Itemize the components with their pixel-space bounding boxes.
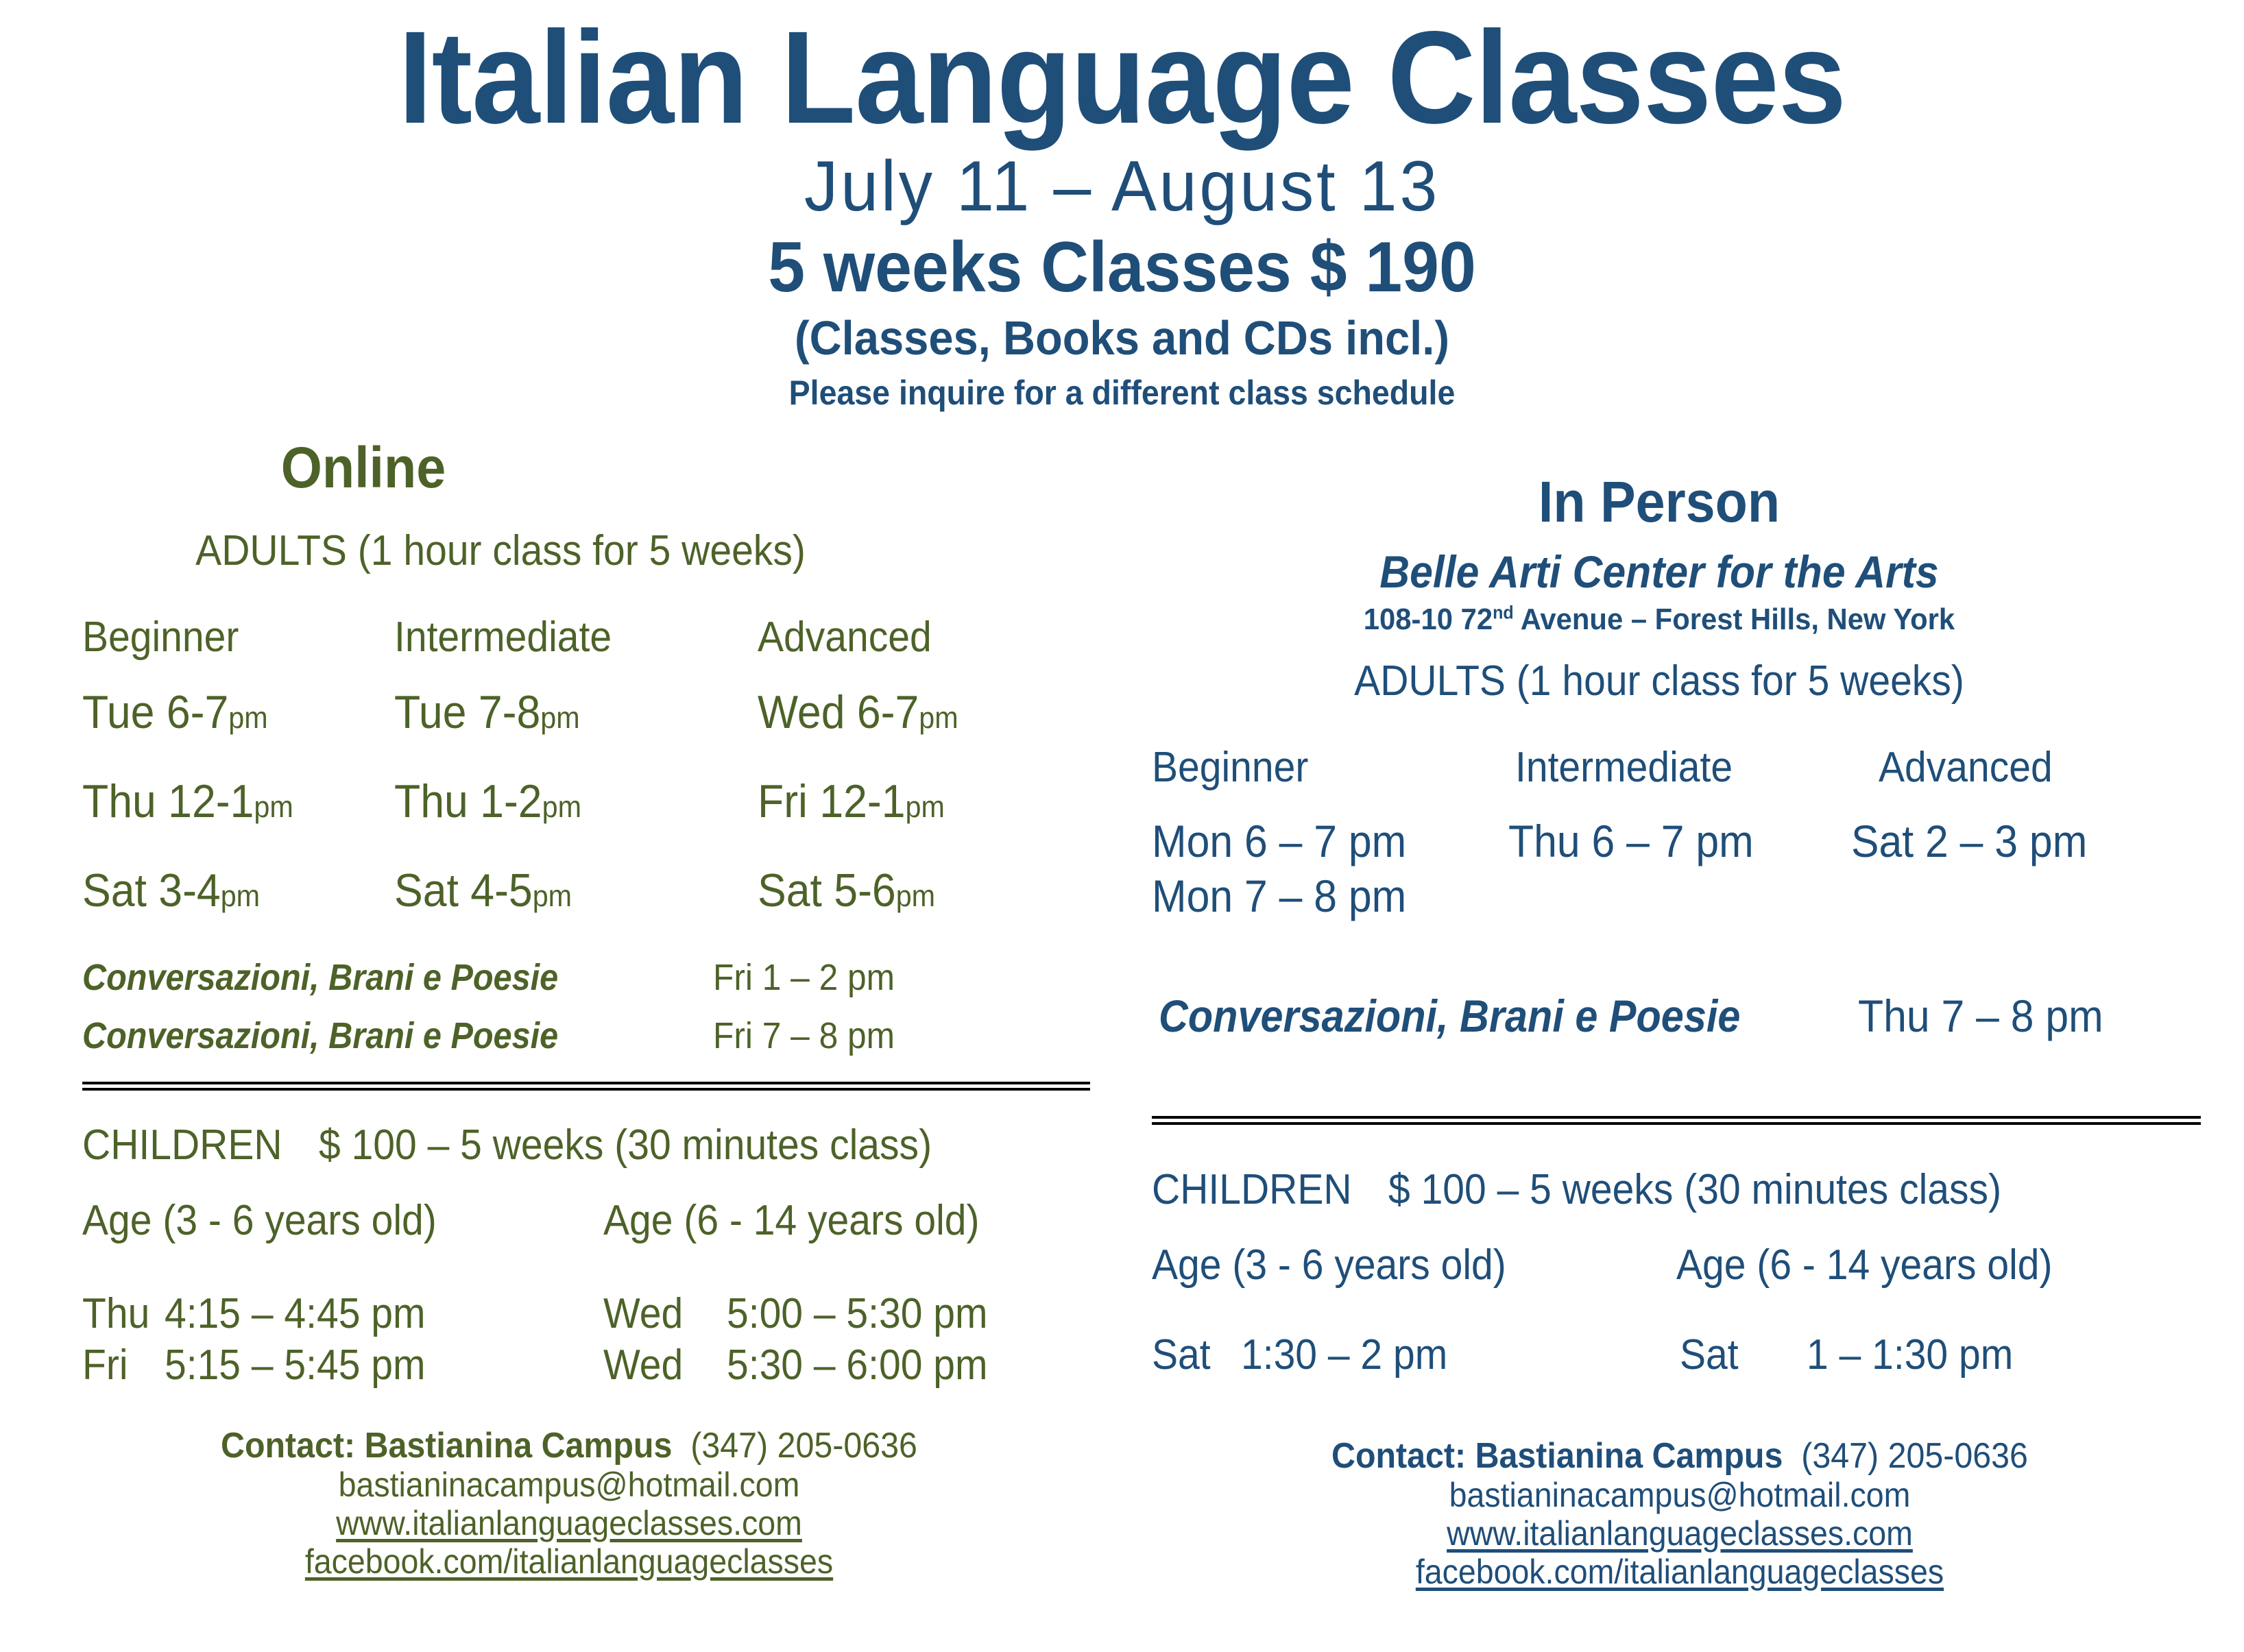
inperson-contact-name: Bastianina Campus [1475,1436,1783,1476]
venue-address-post: Avenue – Forest Hills, New York [1514,603,1955,636]
online-children-day: Wed [603,1289,717,1339]
inperson-conversazioni-row: Conversazioni, Brani e Poesie Thu 7 – 8 … [1159,991,2242,1043]
online-conversazioni-row: Conversazioni, Brani e Poesie Fri 1 – 2 … [82,956,1111,999]
online-conversazioni-time: Fri 7 – 8 pm [713,1015,895,1057]
inperson-children-time: 1:30 – 2 pm [1241,1330,1645,1381]
online-slot-ampm: pm [919,700,958,735]
inperson-conversazioni-label: Conversazioni, Brani e Poesie [1159,991,1788,1043]
online-slot-time: Fri 12-1 [758,775,906,827]
inperson-contact-website[interactable]: www.italianlanguageclasses.com [1189,1514,2171,1553]
online-slot-ampm: pm [542,789,581,824]
inperson-children-age-groups: Age (3 - 6 years old) Age (6 - 14 years … [1152,1241,2235,1289]
inperson-conversazioni-time: Thu 7 – 8 pm [1858,991,2103,1043]
online-slot-time: Thu 1-2 [394,775,542,827]
flyer-header: Italian Language Classes July 11 – Augus… [0,0,2244,412]
inperson-contact-email[interactable]: bastianinacampus@hotmail.com [1189,1476,2171,1514]
online-children-age-groups: Age (3 - 6 years old) Age (6 - 14 years … [82,1196,1111,1245]
inperson-section-title: In Person [1167,473,2151,531]
date-range: July 11 – August 13 [56,149,2188,224]
inperson-adults-heading: ADULTS (1 hour class for 5 weeks) [1167,658,2151,705]
online-slot-ampm: pm [254,789,293,824]
online-slot-time: Sat 4-5 [394,864,533,916]
online-children-heading: CHILDREN $ 100 – 5 weeks (30 minutes cla… [82,1121,1111,1169]
online-slot-row: Sat 3-4pm Sat 4-5pm Sat 5-6pm [82,864,1111,917]
inquire-line: Please inquire for a different class sch… [79,374,2166,412]
online-slot-ampm: pm [540,700,579,735]
online-children-day: Fri [82,1340,158,1391]
online-slot-row: Thu 12-1pm Thu 1-2pm Fri 12-1pm [82,775,1111,828]
inperson-contact-line: Contact: Bastianina Campus (347) 205-063… [1189,1436,2171,1476]
online-contact-name: Bastianina Campus [365,1426,673,1466]
online-slot-time: Sat 5-6 [758,864,896,916]
inperson-contact-phone: (347) 205-0636 [1801,1436,2028,1476]
venue-address: 108-10 72nd Avenue – Forest Hills, New Y… [1151,603,2167,636]
online-contact-line: Contact: Bastianina Campus (347) 205-063… [78,1426,1060,1466]
inperson-level-intermediate: Intermediate [1515,744,1850,791]
inperson-children-day: Sat [1680,1330,1796,1381]
online-slot-ampm: pm [228,700,267,735]
online-adults-heading: ADULTS (1 hour class for 5 weeks) [40,528,961,574]
online-children-time: 5:30 – 6:00 pm [727,1340,988,1391]
inperson-contact-block: Contact: Bastianina Campus (347) 205-063… [1152,1436,2208,1591]
online-children-time: 5:15 – 5:45 pm [165,1340,568,1391]
online-children-age-group-1: Age (3 - 6 years old) [82,1196,562,1245]
online-contact-email[interactable]: bastianinacampus@hotmail.com [78,1466,1060,1504]
inperson-contact-label: Contact: [1331,1436,1466,1476]
online-section-title: Online [29,439,697,496]
online-level-advanced: Advanced [758,614,1041,661]
venue-name: Belle Arti Center for the Arts [1167,548,2151,596]
online-contact-facebook[interactable]: facebook.com/italianlanguageclasses [78,1542,1060,1581]
online-contact-website[interactable]: www.italianlanguageclasses.com [78,1504,1060,1542]
online-slot-ampm: pm [221,878,260,913]
inperson-children-age-group-2: Age (6 - 14 years old) [1676,1241,2052,1289]
inperson-slot-beginner: Mon 7 – 8 pm [1152,871,1480,923]
online-slot-time: Tue 7-8 [394,686,540,738]
inperson-contact-facebook[interactable]: facebook.com/italianlanguageclasses [1189,1553,2171,1591]
online-children-label: CHILDREN [82,1121,300,1169]
inperson-slot-row: Mon 6 – 7 pm Thu 6 – 7 pm Sat 2 – 3 pm [1152,816,2235,868]
online-children-row: Thu 4:15 – 4:45 pm Wed 5:00 – 5:30 pm [82,1289,1111,1339]
inperson-children-heading: CHILDREN $ 100 – 5 weeks (30 minutes cla… [1152,1165,2235,1214]
inperson-level-advanced: Advanced [1879,744,2143,791]
venue-address-ordinal: nd [1493,602,1514,622]
online-contact-block: Contact: Bastianina Campus (347) 205-063… [41,1426,1097,1581]
online-slot-ampm: pm [896,878,935,913]
online-conversazioni-label: Conversazioni, Brani e Poesie [82,1015,650,1057]
online-slot-time: Thu 12-1 [82,775,254,827]
online-slot-ampm: pm [906,789,945,824]
online-children-age-group-2: Age (6 - 14 years old) [603,1196,979,1245]
inperson-slot-beginner: Mon 6 – 7 pm [1152,816,1480,868]
online-conversazioni-row: Conversazioni, Brani e Poesie Fri 7 – 8 … [82,1015,1111,1057]
online-conversazioni-label: Conversazioni, Brani e Poesie [82,956,650,999]
online-slot-row: Tue 6-7pm Tue 7-8pm Wed 6-7pm [82,685,1111,739]
online-children-price: $ 100 – 5 weeks (30 minutes class) [319,1121,932,1169]
online-slot-ampm: pm [533,878,572,913]
online-slot-time: Tue 6-7 [82,686,228,738]
online-children-row: Fri 5:15 – 5:45 pm Wed 5:30 – 6:00 pm [82,1340,1111,1391]
venue-address-pre: 108-10 72 [1364,603,1493,636]
inperson-slot-advanced: Sat 2 – 3 pm [1851,816,2087,868]
inperson-children-row: Sat 1:30 – 2 pm Sat 1 – 1:30 pm [1152,1330,2235,1381]
online-slot-time: Wed 6-7 [758,686,919,738]
inperson-level-beginner: Beginner [1152,744,1486,791]
price-line: 5 weeks Classes $ 190 [79,230,2166,305]
inperson-children-label: CHILDREN [1152,1165,1369,1214]
online-divider [82,1082,1090,1091]
inperson-children-price: $ 100 – 5 weeks (30 minutes class) [1388,1165,2001,1214]
inperson-children-day: Sat [1152,1330,1234,1381]
online-level-beginner: Beginner [82,614,370,661]
online-children-time: 5:00 – 5:30 pm [727,1289,988,1339]
online-contact-phone: (347) 205-0636 [690,1426,917,1466]
inperson-children-time: 1 – 1:30 pm [1807,1330,2013,1381]
online-children-day: Thu [82,1289,158,1339]
inperson-slot-intermediate: Thu 6 – 7 pm [1508,816,1824,868]
inperson-divider [1152,1116,2201,1125]
online-children-day: Wed [603,1340,717,1391]
online-level-intermediate: Intermediate [394,614,729,661]
online-slot-time: Sat 3-4 [82,864,221,916]
page-title: Italian Language Classes [79,15,2166,140]
included-line: (Classes, Books and CDs incl.) [79,312,2166,365]
online-children-time: 4:15 – 4:45 pm [165,1289,568,1339]
online-contact-label: Contact: [221,1426,355,1466]
online-level-headers: Beginner Intermediate Advanced [82,614,1111,661]
inperson-children-age-group-1: Age (3 - 6 years old) [1152,1241,1634,1289]
inperson-slot-row: Mon 7 – 8 pm [1152,871,2235,923]
inperson-level-headers: Beginner Intermediate Advanced [1152,744,2221,791]
online-conversazioni-time: Fri 1 – 2 pm [713,956,895,999]
